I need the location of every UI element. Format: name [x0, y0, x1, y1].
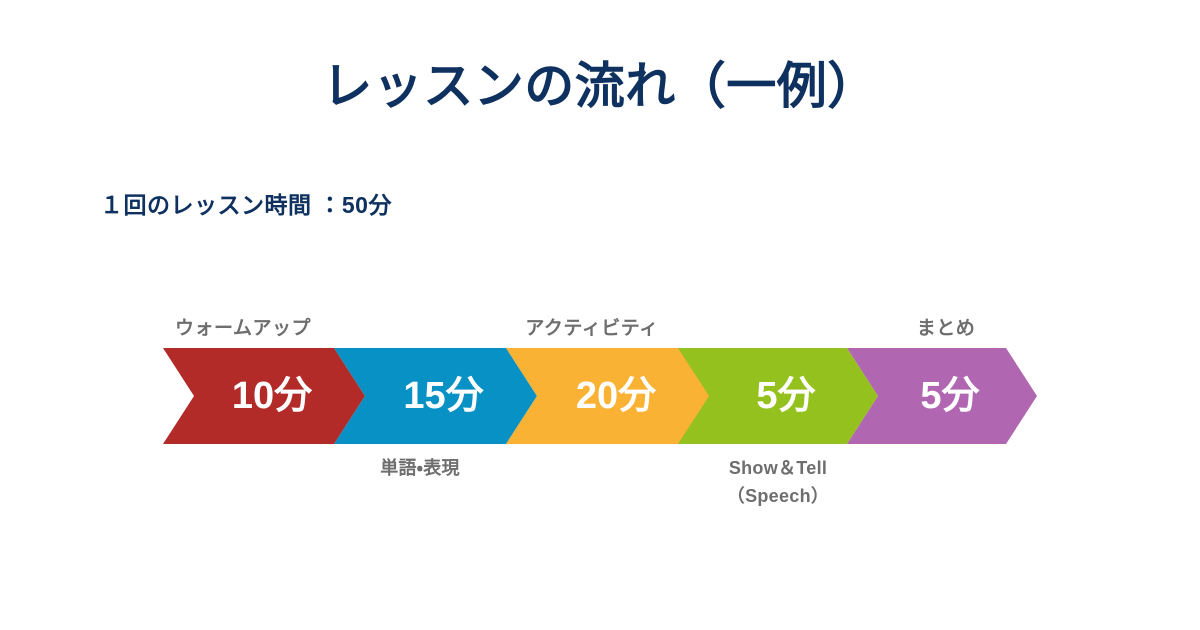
step-caption-above-summary: まとめ [848, 313, 1044, 340]
chevron-shape-5: 5分 [847, 348, 1037, 444]
slide-canvas: レッスンの流れ（一例） １回のレッスン時間 ：50分 ウォームアップ アクティビ… [0, 0, 1200, 630]
step-caption-above-activity: アクティビティ [492, 313, 692, 340]
step-caption-above-warmup: ウォームアップ [143, 313, 343, 340]
step-caption-below-vocabulary: 単語・表現 [320, 455, 520, 483]
flow-step-5-duration: 5分 [920, 377, 979, 415]
flow-step-3-duration: 20分 [576, 377, 656, 415]
flow-step-2-duration: 15分 [403, 377, 483, 415]
step-caption-below-showandtell-line1: Show＆Tell [678, 455, 878, 483]
step-caption-below-showandtell: Show＆Tell （Speech） [678, 455, 878, 511]
lesson-flow-diagram: ウォームアップ アクティビティ まとめ 10分 15分 20分 5分 [0, 0, 1200, 630]
flow-step-5[interactable]: 5分 [847, 348, 1037, 444]
flow-step-1-duration: 10分 [232, 377, 312, 415]
flow-step-4-duration: 5分 [756, 377, 815, 415]
step-caption-below-showandtell-line2: （Speech） [678, 483, 878, 511]
